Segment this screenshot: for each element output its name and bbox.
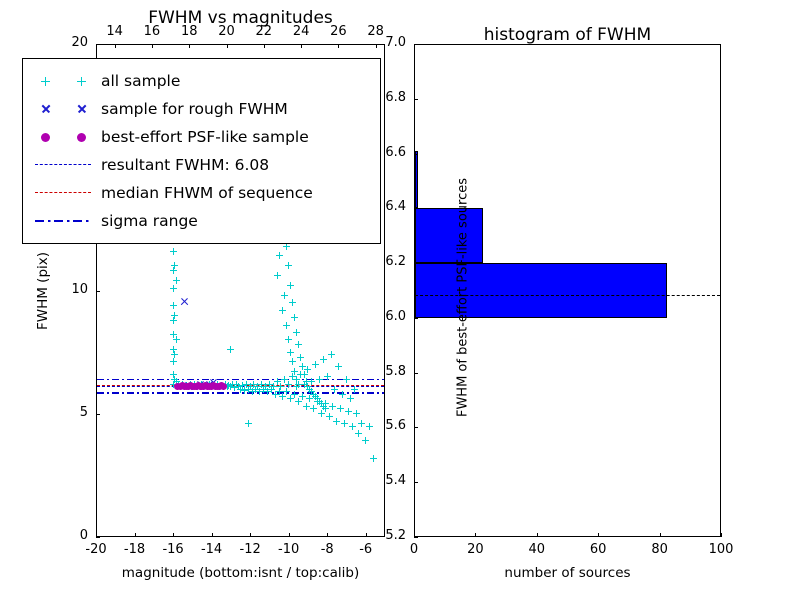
legend-item[interactable]: best-effort PSF-like sample: [33, 123, 370, 151]
xtick-mark: [660, 533, 661, 537]
ytick-mark: [414, 154, 418, 155]
xtick-mark: [721, 533, 722, 537]
dot-icon: [41, 133, 50, 142]
xtick-mark: [598, 533, 599, 537]
legend-label: best-effort PSF-like sample: [101, 128, 309, 146]
ytick-mark: [414, 427, 418, 428]
legend-label: all sample: [101, 72, 180, 90]
ytick-mark: [414, 263, 418, 264]
right-yaxis-label: FWHM of best-effort PSF-like sources: [456, 88, 471, 508]
legend-item[interactable]: sample for rough FWHM: [33, 95, 370, 123]
dashed-line-icon: [35, 192, 91, 193]
dashdot-line-icon: [35, 220, 91, 222]
dashed-line-icon: [35, 164, 91, 165]
legend-label: median FHWM of sequence: [101, 184, 313, 202]
legend-label: sample for rough FWHM: [101, 100, 288, 118]
ytick-mark: [414, 208, 418, 209]
legend-marker: [33, 127, 95, 147]
right-xaxis-label: number of sources: [414, 565, 721, 581]
plus-icon: [77, 77, 86, 86]
figure-canvas: FWHM vs magnitudes -20-18-16-14-12-10-8-…: [0, 0, 800, 600]
ytick-mark: [414, 318, 418, 319]
legend-marker: [33, 155, 95, 175]
ytick-mark: [414, 537, 418, 538]
legend-marker: [33, 71, 95, 91]
x-icon: [41, 104, 51, 114]
xtick-mark: [475, 533, 476, 537]
x-icon: [77, 104, 87, 114]
legend-label: sigma range: [101, 212, 198, 230]
xtick-mark: [537, 533, 538, 537]
legend-item[interactable]: resultant FWHM: 6.08: [33, 151, 370, 179]
dot-icon: [77, 133, 86, 142]
legend-marker: [33, 211, 95, 231]
legend-item[interactable]: median FHWM of sequence: [33, 179, 370, 207]
legend-item[interactable]: sigma range: [33, 207, 370, 235]
ytick-mark: [414, 44, 418, 45]
legend-item[interactable]: all sample: [33, 67, 370, 95]
ytick-mark: [414, 373, 418, 374]
ytick-mark: [414, 482, 418, 483]
legend-label: resultant FWHM: 6.08: [101, 156, 269, 174]
legend-box: all samplesample for rough FWHMbest-effo…: [22, 58, 381, 244]
plus-icon: [41, 77, 50, 86]
ytick-mark: [414, 99, 418, 100]
legend-marker: [33, 99, 95, 119]
legend-marker: [33, 183, 95, 203]
